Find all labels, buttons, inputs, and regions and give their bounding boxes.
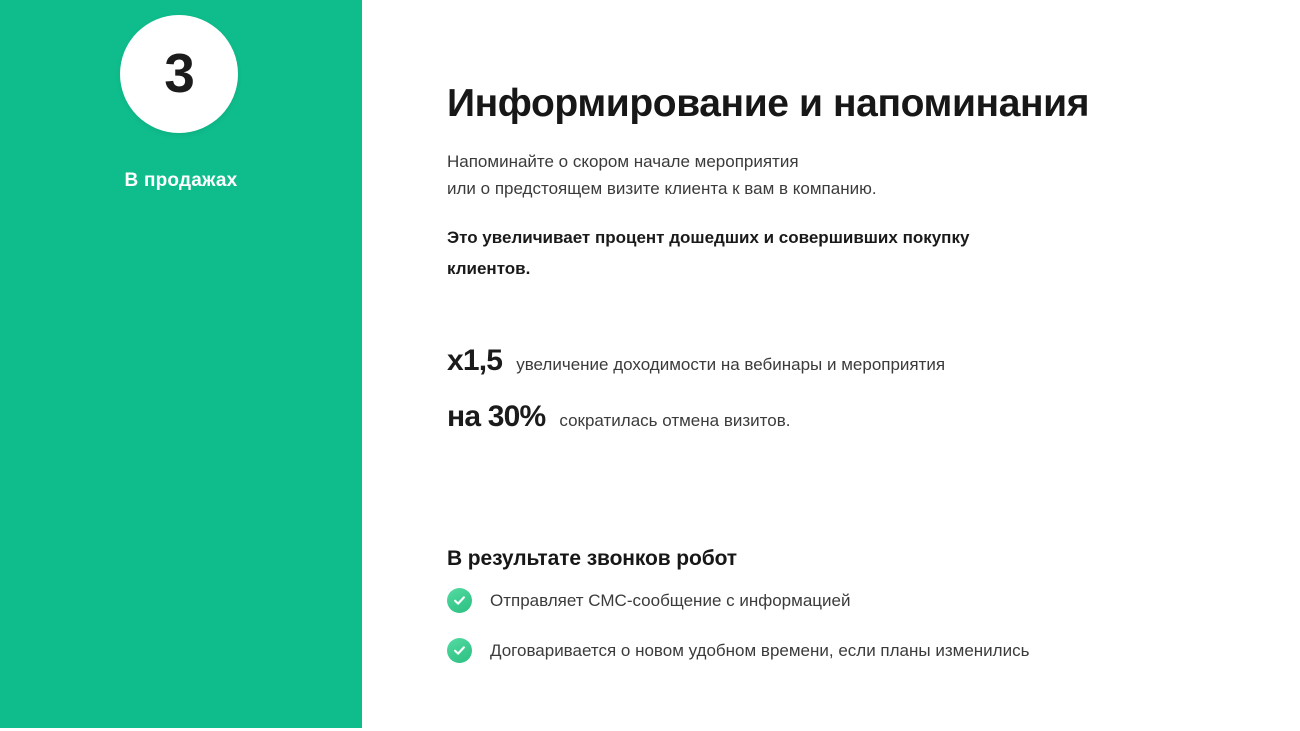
stat-label: сократилась отмена визитов.: [559, 411, 790, 431]
intro-line: Напоминайте о скором начале мероприятия: [447, 148, 1167, 175]
stat-label: увеличение доходимости на вебинары и мер…: [516, 355, 945, 375]
stats-list: x1,5 увеличение доходимости на вебинары …: [447, 344, 1167, 456]
emphasis-line: клиентов.: [447, 253, 1087, 284]
list-item: Договаривается о новом удобном времени, …: [447, 638, 1187, 663]
emphasis-paragraph: Это увеличивает процент дошедших и совер…: [447, 222, 1087, 284]
stat-value: на 30%: [447, 400, 545, 434]
sidebar: 3 В продажах: [0, 0, 362, 728]
list-item-label: Договаривается о новом удобном времени, …: [490, 638, 1029, 663]
step-number-badge: 3: [120, 15, 238, 133]
stat-value: x1,5: [447, 344, 502, 378]
stat-row: на 30% сократилась отмена визитов.: [447, 400, 1167, 434]
list-item: Отправляет СМС-сообщение с информацией: [447, 588, 1187, 613]
page-title: Информирование и напоминания: [447, 83, 1089, 126]
slide: 3 В продажах Информирование и напоминани…: [0, 0, 1300, 731]
check-circle-icon: [447, 638, 472, 663]
list-item-label: Отправляет СМС-сообщение с информацией: [490, 588, 850, 613]
intro-paragraph: Напоминайте о скором начале мероприятия …: [447, 148, 1167, 202]
step-number-text: 3: [164, 46, 194, 101]
result-heading: В результате звонков робот: [447, 547, 737, 571]
main-content: Информирование и напоминания Напоминайте…: [447, 0, 1247, 731]
stat-row: x1,5 увеличение доходимости на вебинары …: [447, 344, 1167, 378]
check-circle-icon: [447, 588, 472, 613]
sidebar-caption: В продажах: [0, 170, 362, 192]
result-check-list: Отправляет СМС-сообщение с информацией Д…: [447, 588, 1187, 688]
emphasis-line: Это увеличивает процент дошедших и совер…: [447, 222, 1087, 253]
intro-line: или о предстоящем визите клиента к вам в…: [447, 175, 1167, 202]
